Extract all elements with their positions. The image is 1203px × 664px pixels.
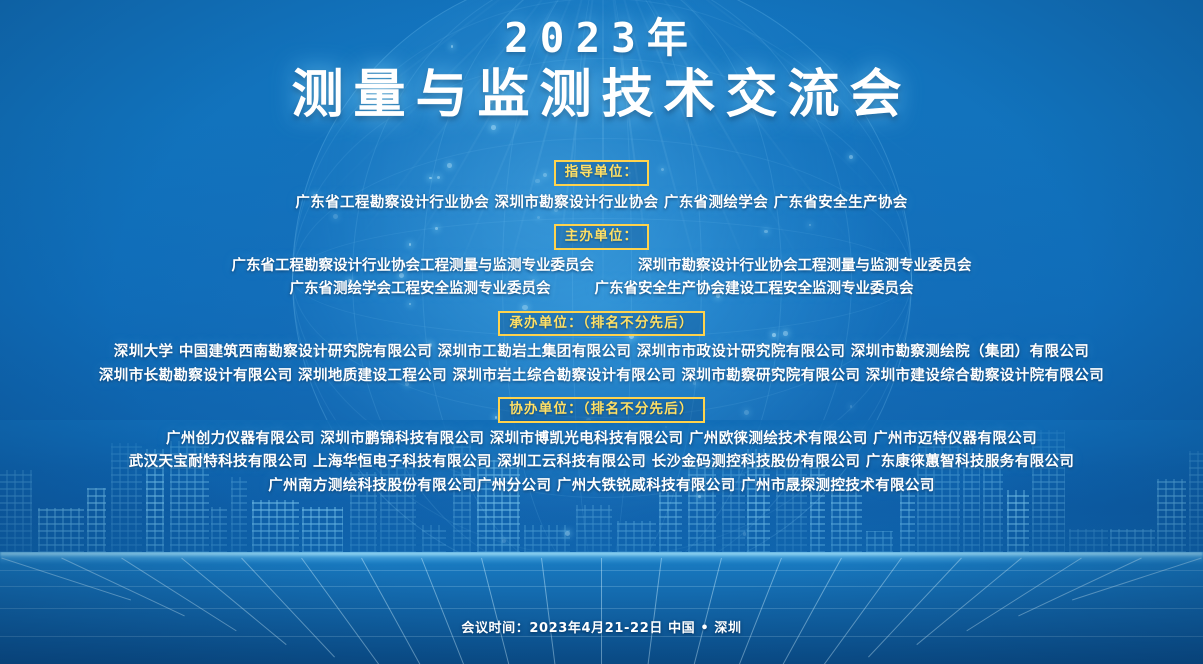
organizer-units-line-1: 深圳大学 中国建筑西南勘察设计研究院有限公司 深圳市工勘岩土集团有限公司 深圳市…	[0, 341, 1203, 364]
section-host-units: 主办单位： 广东省工程勘察设计行业协会工程测量与监测专业委员会 深圳市勘察设计行…	[0, 224, 1203, 302]
perspective-grid-floor	[0, 552, 1203, 664]
title-main: 测量与监测技术交流会	[0, 64, 1203, 126]
host-unit-left-2: 广东省测绘学会工程安全监测专业委员会	[290, 278, 551, 301]
guide-units-line-1: 广东省工程勘察设计行业协会 深圳市勘察设计行业协会 广东省测绘学会 广东省安全生…	[0, 192, 1203, 215]
organizer-units-line-2: 深圳市长勘勘察设计有限公司 深圳地质建设工程公司 深圳市岩土综合勘察设计有限公司…	[0, 365, 1203, 388]
organization-sections: 指导单位： 广东省工程勘察设计行业协会 深圳市勘察设计行业协会 广东省测绘学会 …	[0, 160, 1203, 507]
host-unit-right-2: 广东省安全生产协会建设工程安全监测专业委员会	[595, 278, 914, 301]
section-badge-guide: 指导单位：	[554, 160, 650, 186]
section-badge-cohost: 协办单位：（排名不分先后）	[498, 397, 704, 423]
cohost-units-line-2: 武汉天宝耐特科技有限公司 上海华恒电子科技有限公司 深圳工云科技有限公司 长沙金…	[0, 451, 1203, 474]
host-units-row-2: 广东省测绘学会工程安全监测专业委员会 广东省安全生产协会建设工程安全监测专业委员…	[0, 278, 1203, 301]
cohost-units-line-1: 广州创力仪器有限公司 深圳市鹏锦科技有限公司 深圳市博凯光电科技有限公司 广州欧…	[0, 428, 1203, 451]
section-guide-units: 指导单位： 广东省工程勘察设计行业协会 深圳市勘察设计行业协会 广东省测绘学会 …	[0, 160, 1203, 215]
host-units-row-1: 广东省工程勘察设计行业协会工程测量与监测专业委员会 深圳市勘察设计行业协会工程测…	[0, 255, 1203, 278]
title-year: 2023年	[0, 16, 1203, 62]
host-unit-left-1: 广东省工程勘察设计行业协会工程测量与监测专业委员会	[232, 255, 595, 278]
conference-poster: 2023年 测量与监测技术交流会 指导单位： 广东省工程勘察设计行业协会 深圳市…	[0, 0, 1203, 664]
conference-footer: 会议时间：2023年4月21-22日 中国 • 深圳	[0, 617, 1203, 636]
section-organizer-units: 承办单位：（排名不分先后） 深圳大学 中国建筑西南勘察设计研究院有限公司 深圳市…	[0, 311, 1203, 389]
section-badge-host: 主办单位：	[554, 224, 650, 250]
host-unit-right-1: 深圳市勘察设计行业协会工程测量与监测专业委员会	[638, 255, 972, 278]
cohost-units-line-3: 广州南方测绘科技股份有限公司广州分公司 广州大铁锐威科技有限公司 广州市晟探测控…	[0, 475, 1203, 498]
poster-title: 2023年 测量与监测技术交流会	[0, 16, 1203, 126]
section-cohost-units: 协办单位：（排名不分先后） 广州创力仪器有限公司 深圳市鹏锦科技有限公司 深圳市…	[0, 397, 1203, 498]
section-badge-organizer: 承办单位：（排名不分先后）	[498, 311, 704, 337]
